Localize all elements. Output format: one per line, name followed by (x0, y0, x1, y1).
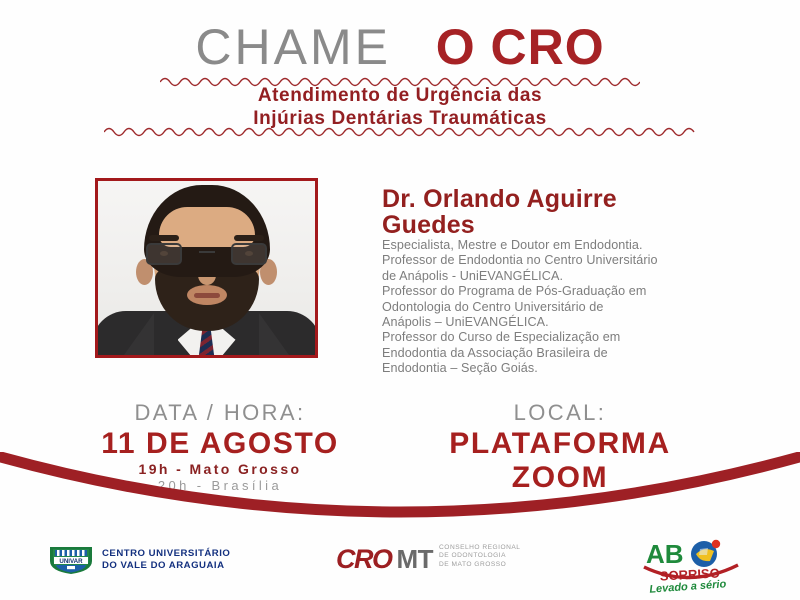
bio-line: Odontologia do Centro Universitário de (382, 300, 722, 315)
cro-wordmark: CRO MT (336, 546, 433, 573)
wavy-divider-bottom (104, 124, 696, 138)
location-label: LOCAL: (415, 400, 705, 426)
cro-letters: CRO (336, 546, 392, 573)
poster-title: CHAME O CRO (0, 18, 800, 76)
logo-cro-mt: CRO MT CONSELHO REGIONAL DE ODONTOLOGIA … (336, 544, 520, 573)
bio-line: Professor de Endodontia no Centro Univer… (382, 253, 722, 268)
bio-line: Especialista, Mestre e Doutor em Endodon… (382, 238, 722, 253)
bio-line: Endodontia – Seção Goiás. (382, 361, 722, 376)
bio-line: Anápolis – UniEVANGÉLICA. (382, 315, 722, 330)
photo-eyeglass-left (146, 243, 182, 265)
cro-description: CONSELHO REGIONAL DE ODONTOLOGIA DE MATO… (439, 544, 520, 573)
univar-shield-icon: UNIVAR (48, 545, 94, 575)
bio-line: Professor do Curso de Especialização em (382, 330, 722, 345)
speaker-photo-frame (95, 178, 318, 358)
title-chame: CHAME (195, 19, 391, 75)
photo-eyeglass-right (231, 243, 267, 265)
cro-desc-line-1: CONSELHO REGIONAL (439, 544, 520, 552)
photo-forehead (159, 207, 255, 247)
bio-line: Professor do Programa de Pós-Graduação e… (382, 284, 722, 299)
photo-eyeglass-bridge (199, 251, 215, 253)
poster-canvas: CHAME O CRO Atendimento de Urgência das … (0, 0, 800, 600)
speaker-bio: Especialista, Mestre e Doutor em Endodon… (382, 238, 722, 377)
logo-univar: UNIVAR CENTRO UNIVERSITÁRIO DO VALE DO A… (48, 545, 230, 575)
title-o-cro: O CRO (436, 19, 605, 75)
abo-letters: AB (646, 539, 684, 569)
speaker-name: Dr. Orlando Aguirre Guedes (382, 186, 712, 238)
svg-text:UNIVAR: UNIVAR (59, 558, 83, 565)
univar-name-line-2: DO VALE DO ARAGUAIA (102, 560, 230, 572)
speaker-photo (98, 181, 315, 355)
univar-name: CENTRO UNIVERSITÁRIO DO VALE DO ARAGUAIA (102, 548, 230, 572)
cro-state: MT (397, 546, 434, 573)
logo-abo-sorriso: AB SORRISO Levado a sério (638, 537, 750, 593)
cro-desc-line-3: DE MATO GROSSO (439, 561, 520, 569)
bio-line: de Anápolis - UniEVANGÉLICA. (382, 269, 722, 284)
date-label: DATA / HORA: (40, 400, 400, 426)
univar-name-line-1: CENTRO UNIVERSITÁRIO (102, 548, 230, 560)
abo-logo-icon: AB SORRISO Levado a sério (638, 537, 750, 593)
cro-desc-line-2: DE ODONTOLOGIA (439, 552, 520, 560)
bio-line: Endodontia da Associação Brasileira de (382, 346, 722, 361)
subtitle-line-1: Atendimento de Urgência das (0, 84, 800, 107)
photo-eyebrow-left (149, 235, 179, 241)
footer-logos: UNIVAR CENTRO UNIVERSITÁRIO DO VALE DO A… (0, 534, 800, 596)
photo-eyebrow-right (234, 235, 264, 241)
photo-lips (194, 293, 220, 298)
